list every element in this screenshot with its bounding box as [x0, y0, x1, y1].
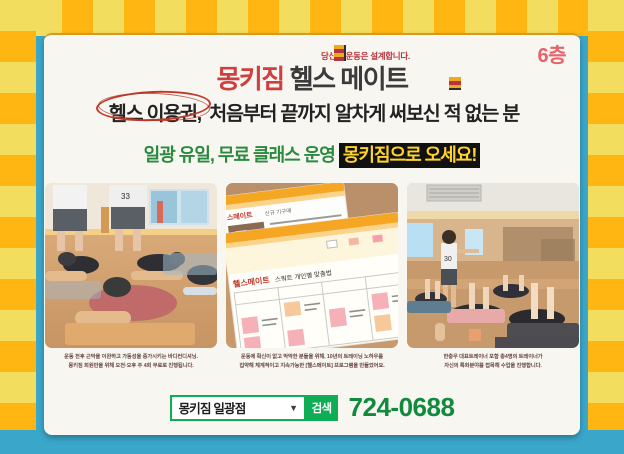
- photo-caption-3: 한충우 대표트레이너 포함 총4명의 트레이너가 자신의 특화분야를 접목해 수…: [407, 353, 579, 372]
- headline-line2-green: 일광 유일, 무료 클래스 운영: [144, 145, 335, 165]
- photo-column-1: 33: [45, 183, 217, 363]
- photo-program-sheets-image: 스메이트 신규 기구매: [226, 183, 398, 348]
- branch-select[interactable]: 몽키짐 일광점 ▼: [170, 395, 306, 421]
- svg-text:33: 33: [121, 192, 130, 201]
- photo-stretching-class: 33: [45, 183, 217, 348]
- brand-title: 몽키짐헬스 메이트: [216, 59, 407, 96]
- caption-3-line-1: 한충우 대표트레이너 포함 총4명의 트레이너가: [443, 354, 542, 360]
- brand-name-secondary: 헬스 메이트: [290, 64, 408, 94]
- caption-3-line-2: 자신의 특화분야를 접목해 수업을 진행합니다.: [407, 362, 579, 371]
- headline-line-2: 일광 유일, 무료 클래스 운영몽키짐으로 오세요!: [44, 141, 580, 167]
- brand-name-primary: 몽키짐: [216, 64, 283, 94]
- caption-1-line-1: 운동 전후 근막을 이완하고 가동성을 증가시키는 바디컨디셔닝.: [64, 354, 198, 360]
- headline-line-1: 헬스 이용권, 처음부터 끝까지 알차게 써보신 적 없는 분: [44, 97, 580, 126]
- caption-1-line-2: 몽키짐 회원만을 위해 오전·오후 주 4회 무료로 진행됩니다.: [45, 362, 217, 371]
- checkered-border-right: [588, 0, 624, 430]
- photo-trainer-class: 30: [407, 183, 579, 348]
- photo-program-sheets: 스메이트 신규 기구매: [226, 183, 398, 348]
- headline-line2-highlight: 몽키짐으로 오세요!: [339, 143, 480, 168]
- photo-trainer-class-image: 30: [407, 183, 579, 348]
- brand-header: 당신의 운동은 설계합니다. 몽키짐헬스 메이트: [44, 41, 580, 96]
- brick-block-icon: [334, 45, 346, 61]
- photo-column-3: 30: [407, 183, 579, 363]
- caption-2-line-2: 집약해 체계적이고 지속가능한 [헬스메이트] 프로그램을 만들었어요.: [226, 362, 398, 371]
- poster-card: 6층 당신의 운동은 설계합니다. 몽키짐헬스 메이트 헬스 이용권, 처음부터…: [44, 33, 580, 435]
- photo-column-2: 스메이트 신규 기구매: [226, 183, 398, 363]
- search-bar: 몽키짐 일광점 ▼ 검색 724-0688: [44, 392, 580, 423]
- headline-line1-rest: 처음부터 끝까지 알차게 써보신 적 없는 분: [209, 103, 519, 125]
- search-button[interactable]: 검색: [306, 395, 338, 421]
- photo-caption-2: 운동에 확신이 없고 막막한 분들을 위해, 10년의 트레이닝 노하우를 집약…: [226, 353, 398, 372]
- brick-block-icon: [449, 77, 461, 90]
- photo-stretching-class-image: 33: [45, 183, 217, 348]
- photo-row: 33: [44, 183, 580, 363]
- svg-text:30: 30: [444, 256, 452, 263]
- checkered-border-left: [0, 0, 36, 430]
- photo-caption-1: 운동 전후 근막을 이완하고 가동성을 증가시키는 바디컨디셔닝. 몽키짐 회원…: [45, 353, 217, 372]
- phone-number: 724-0688: [349, 392, 455, 423]
- chevron-down-icon[interactable]: ▼: [284, 403, 304, 413]
- advertisement-poster: 6층 당신의 운동은 설계합니다. 몽키짐헬스 메이트 헬스 이용권, 처음부터…: [0, 0, 624, 454]
- headline-circled-phrase: 헬스 이용권,: [105, 97, 205, 126]
- checkered-border-top: [0, 0, 624, 36]
- caption-2-line-1: 운동에 확신이 없고 막막한 분들을 위해, 10년의 트레이닝 노하우를: [241, 354, 383, 360]
- branch-select-value: 몽키짐 일광점: [172, 398, 284, 417]
